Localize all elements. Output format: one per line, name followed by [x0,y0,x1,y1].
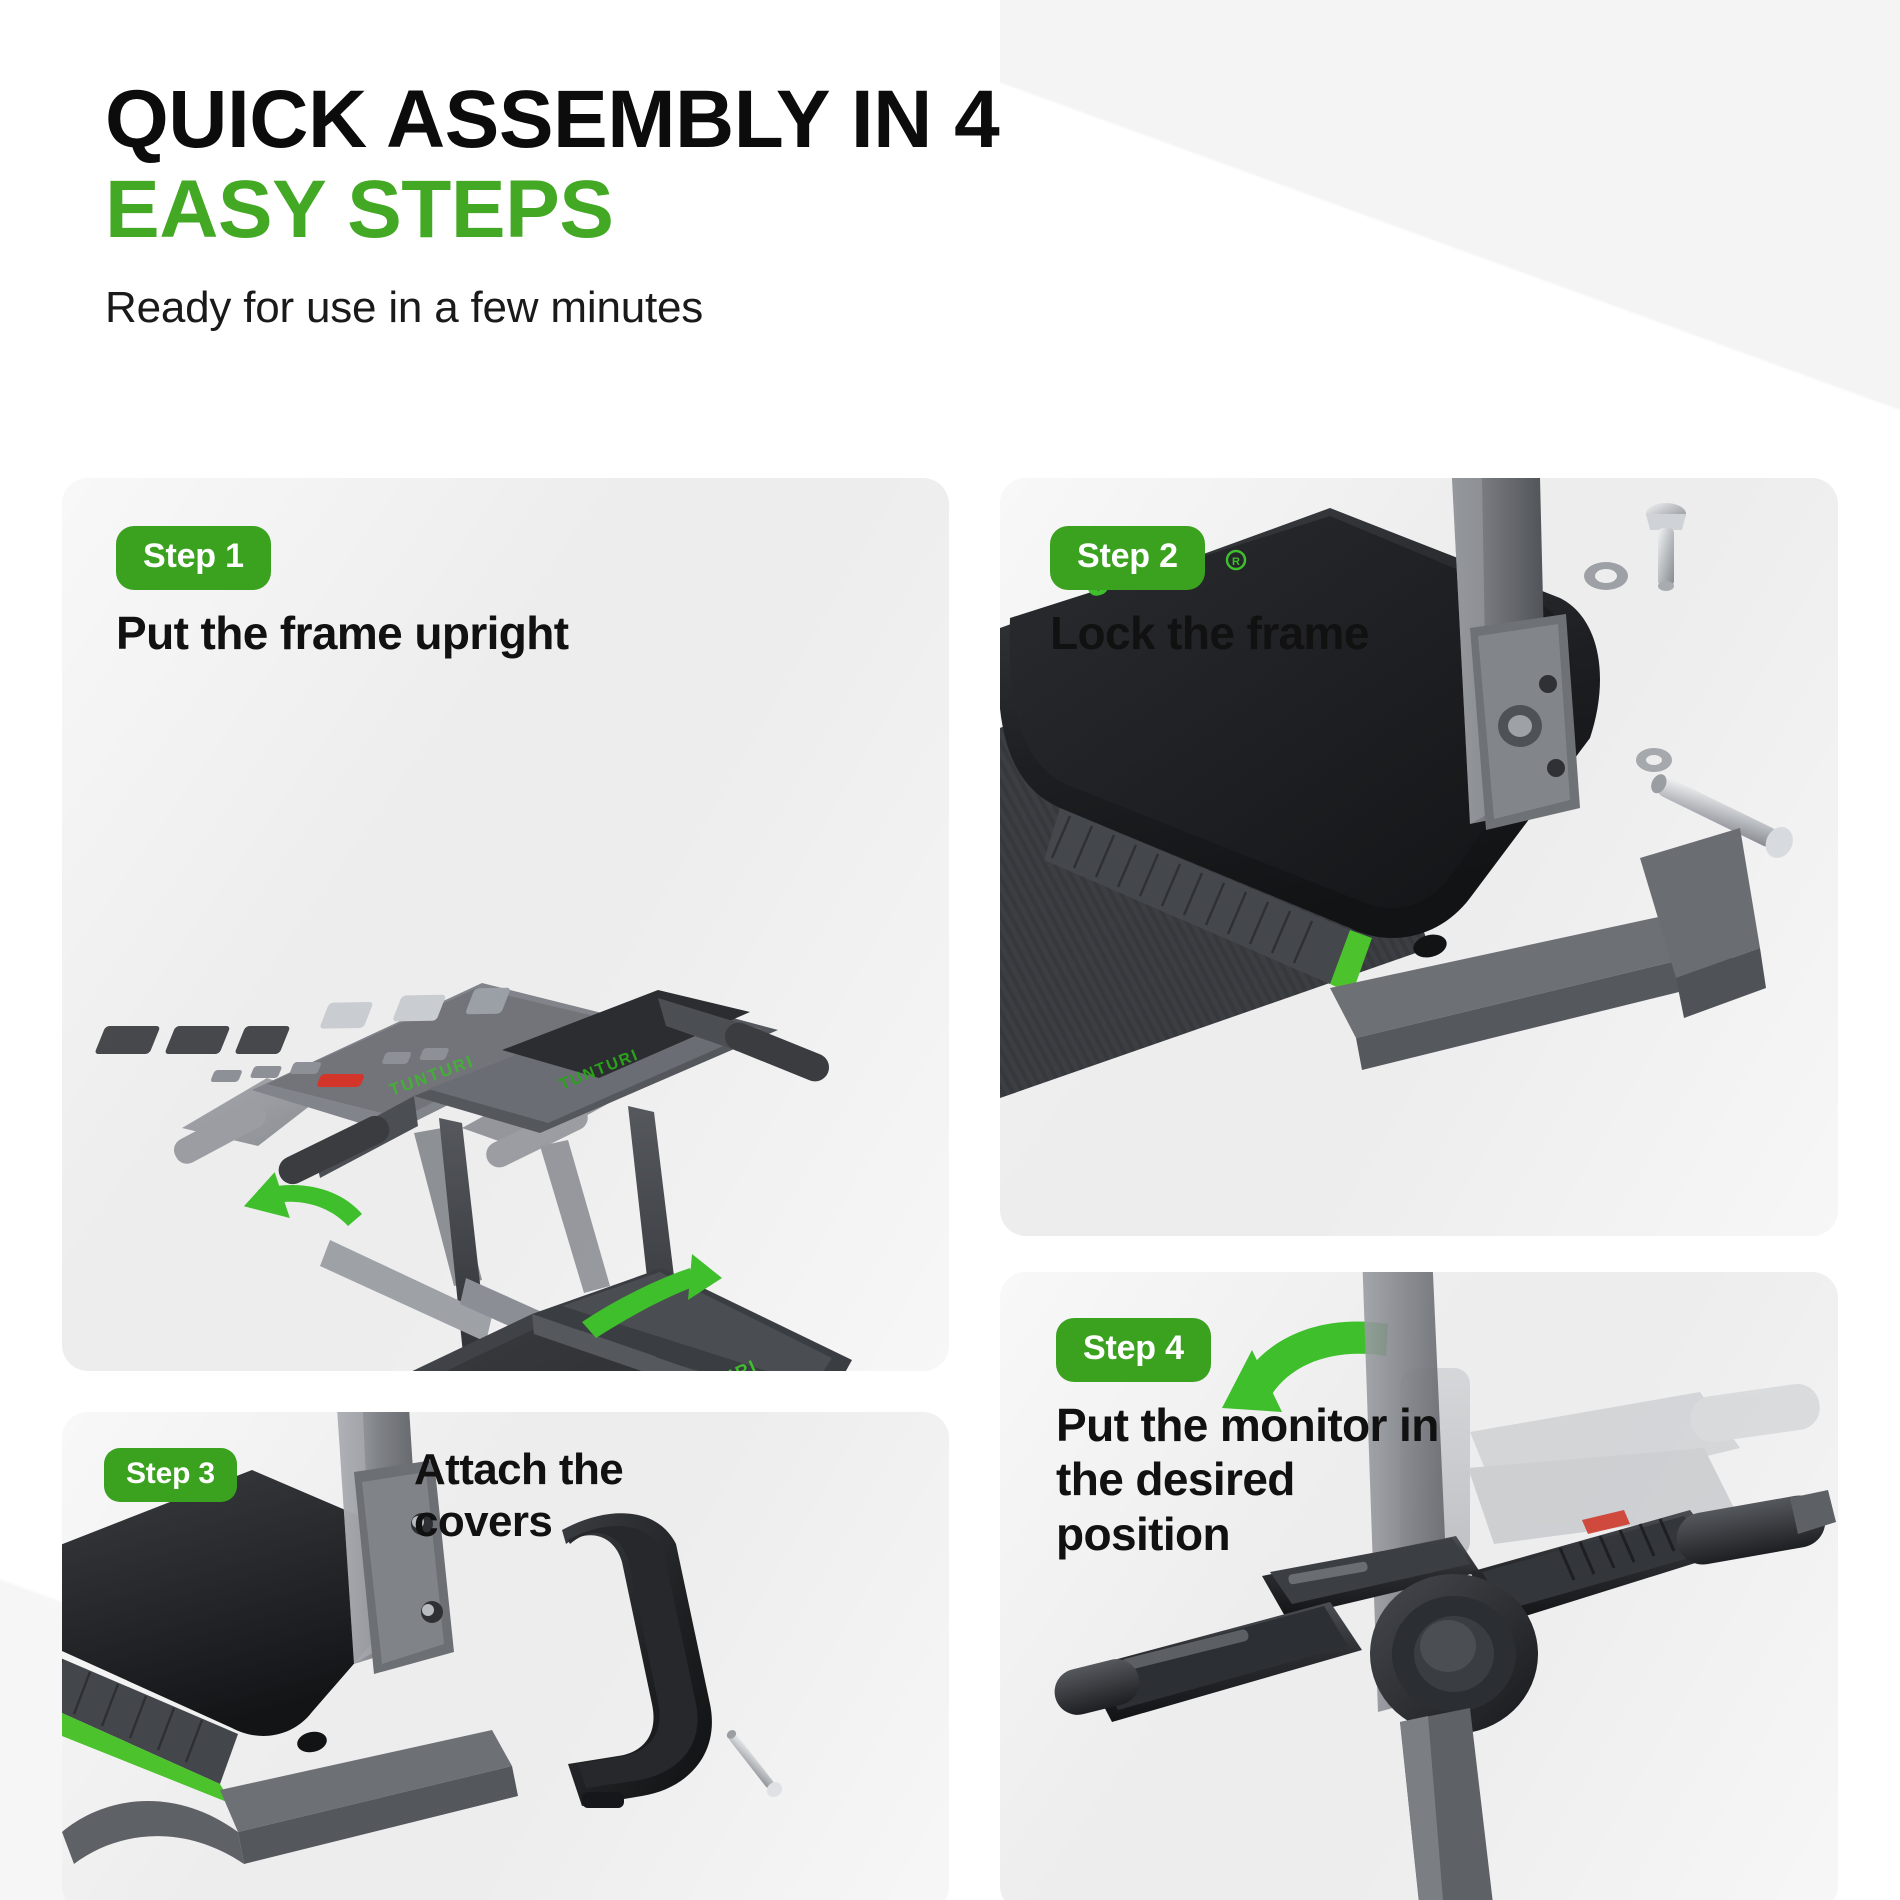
page-title-line2: EASY STEPS [105,168,1505,252]
step-title-2: Lock the frame [1050,606,1369,660]
svg-text:R: R [1232,556,1240,568]
washer-part-middle [1636,748,1672,772]
step-title-4-line2: the desired [1056,1452,1456,1506]
step-badge-4: Step 4 [1056,1318,1211,1382]
page-title: QUICK ASSEMBLY IN 4 EASY STEPS [105,78,1505,251]
step-2-illustration: JRI R [1000,478,1838,1236]
step-card-4: Step 4 Put the monitor in the desired po… [1000,1272,1838,1900]
cover-screw-part [723,1726,785,1800]
washer-part-top [1584,562,1628,590]
step-card-2: JRI R [1000,478,1838,1236]
step-title-4: Put the monitor in the desired position [1056,1398,1456,1561]
page-title-line1: QUICK ASSEMBLY IN 4 [105,74,999,165]
step-badge-3: Step 3 [104,1448,237,1502]
bolt-part [1646,503,1686,591]
step-title-4-line1: Put the monitor in [1056,1398,1456,1452]
step-title-1: Put the frame upright [116,606,569,660]
page-subtitle: Ready for use in a few minutes [105,283,1505,333]
rotation-arrow-left [244,1172,362,1234]
step-title-4-line3: position [1056,1507,1456,1561]
detached-cover-part [562,1513,712,1808]
page-header: QUICK ASSEMBLY IN 4 EASY STEPS Ready for… [105,78,1505,333]
step-title-3: Attach the covers [414,1444,744,1548]
step-badge-2: Step 2 [1050,526,1205,590]
infographic-page: QUICK ASSEMBLY IN 4 EASY STEPS Ready for… [0,0,1900,1900]
step-card-3: Step 3 Attach the covers [62,1412,949,1900]
step-badge-1: Step 1 [116,526,271,590]
step-card-1: TUNTURI [62,478,949,1371]
